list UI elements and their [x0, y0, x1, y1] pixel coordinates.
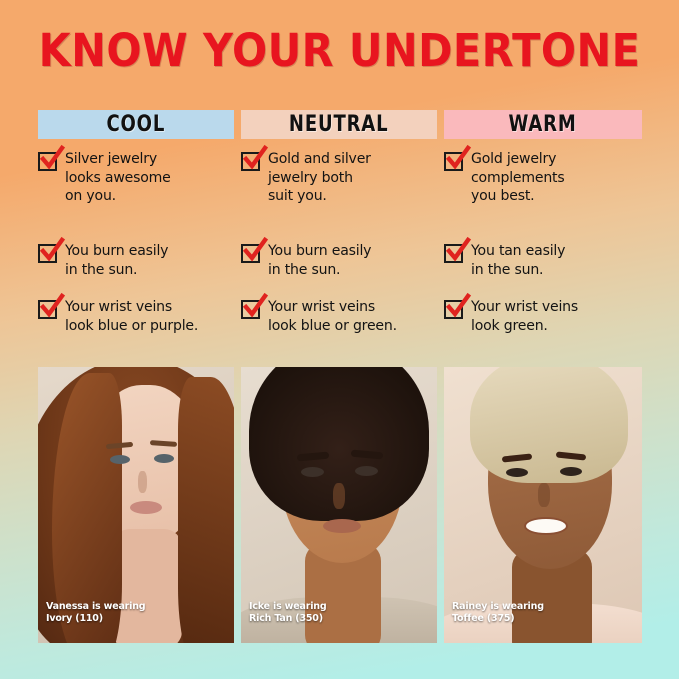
- poster-canvas: KNOW YOUR UNDERTONE COOL NEUTRAL WARM Si…: [0, 0, 679, 679]
- checklist-item-text: You burn easily in the sun.: [268, 242, 371, 279]
- checklist-item-text: Your wrist veins look blue or green.: [268, 298, 397, 335]
- checklist-item-text: Gold jewelry complements you best.: [471, 150, 565, 206]
- checked-checkbox-icon: [38, 300, 57, 319]
- checklist-item-text: Your wrist veins look blue or purple.: [65, 298, 198, 335]
- undertone-banner-row: COOL NEUTRAL WARM: [38, 110, 642, 139]
- banner-warm: WARM: [444, 110, 642, 139]
- banner-neutral: NEUTRAL: [241, 110, 437, 139]
- checklist-item: Your wrist veins look blue or purple.: [38, 298, 202, 335]
- banner-label-neutral: NEUTRAL: [289, 114, 388, 136]
- checked-checkbox-icon: [241, 300, 260, 319]
- checked-checkbox-icon: [38, 152, 57, 171]
- checked-checkbox-icon: [241, 152, 260, 171]
- model-photo-warm: Rainey is wearing Toffee (375): [444, 367, 642, 643]
- model-photo-cool: Vanessa is wearing Ivory (110): [38, 367, 234, 643]
- checked-checkbox-icon: [241, 244, 260, 263]
- checklist-item-text: Gold and silver jewelry both suit you.: [268, 150, 371, 206]
- checklist-item: Silver jewelry looks awesome on you.: [38, 150, 174, 206]
- photo-caption: Icke is wearing Rich Tan (350): [249, 601, 326, 625]
- photo-caption: Vanessa is wearing Ivory (110): [46, 601, 145, 625]
- checklist-item-text: You burn easily in the sun.: [65, 242, 168, 279]
- checklist-item-text: Silver jewelry looks awesome on you.: [65, 150, 171, 206]
- checklist-item-text: Your wrist veins look green.: [471, 298, 578, 335]
- photo-caption: Rainey is wearing Toffee (375): [452, 601, 544, 625]
- model-photo-row: Vanessa is wearing Ivory (110) Icke is w…: [38, 367, 642, 643]
- banner-cool: COOL: [38, 110, 234, 139]
- checked-checkbox-icon: [444, 300, 463, 319]
- checked-checkbox-icon: [444, 244, 463, 263]
- checklist-item-text: You tan easily in the sun.: [471, 242, 565, 279]
- checked-checkbox-icon: [38, 244, 57, 263]
- checklist-item: Your wrist veins look blue or green.: [241, 298, 401, 335]
- checklist-item: Your wrist veins look green.: [444, 298, 581, 335]
- checklist-columns: Silver jewelry looks awesome on you. You…: [38, 150, 646, 350]
- banner-label-cool: COOL: [107, 114, 166, 136]
- checklist-item: You tan easily in the sun.: [444, 242, 568, 279]
- checklist-item: You burn easily in the sun.: [241, 242, 375, 279]
- checklist-item: Gold jewelry complements you best.: [444, 150, 567, 206]
- checklist-item: Gold and silver jewelry both suit you.: [241, 150, 374, 206]
- banner-label-warm: WARM: [509, 114, 577, 136]
- checked-checkbox-icon: [444, 152, 463, 171]
- page-title: KNOW YOUR UNDERTONE: [27, 28, 652, 73]
- checklist-item: You burn easily in the sun.: [38, 242, 172, 279]
- model-photo-neutral: Icke is wearing Rich Tan (350): [241, 367, 437, 643]
